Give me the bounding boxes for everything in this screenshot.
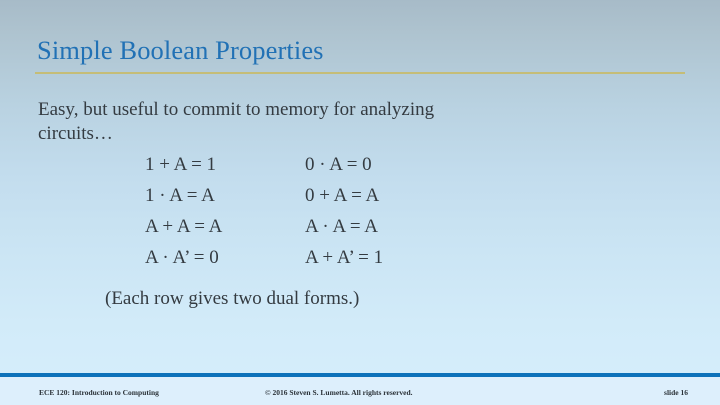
equation-right: 0 + A = A (305, 183, 379, 209)
equation-right: A · A = A (305, 214, 378, 240)
equation-row: 1 + A = 1 0 · A = 0 (0, 152, 720, 183)
equation-right: 0 · A = 0 (305, 152, 372, 178)
dual-forms-note: (Each row gives two dual forms.) (105, 286, 359, 312)
equation-right: A + A’ = 1 (305, 245, 383, 271)
equation-left: A + A = A (145, 214, 222, 240)
footer: ECE 120: Introduction to Computing © 201… (0, 377, 720, 405)
footer-slide-number: slide 16 (664, 388, 688, 397)
footer-course-label: ECE 120: Introduction to Computing (39, 388, 159, 397)
slide-canvas: Simple Boolean Properties Easy, but usef… (0, 0, 720, 405)
footer-copyright-label: © 2016 Steven S. Lumetta. All rights res… (265, 388, 413, 397)
title-underline-rule (35, 72, 685, 74)
equation-left: 1 · A = A (145, 183, 215, 209)
page-title: Simple Boolean Properties (37, 34, 324, 66)
equation-row: A + A = A A · A = A (0, 214, 720, 245)
equation-row: 1 · A = A 0 + A = A (0, 183, 720, 214)
intro-paragraph: Easy, but useful to commit to memory for… (38, 98, 508, 146)
boolean-properties-list: 1 + A = 1 0 · A = 0 1 · A = A 0 + A = A … (0, 152, 720, 276)
equation-left: 1 + A = 1 (145, 152, 216, 178)
equation-left: A · A’ = 0 (145, 245, 219, 271)
equation-row: A · A’ = 0 A + A’ = 1 (0, 245, 720, 276)
